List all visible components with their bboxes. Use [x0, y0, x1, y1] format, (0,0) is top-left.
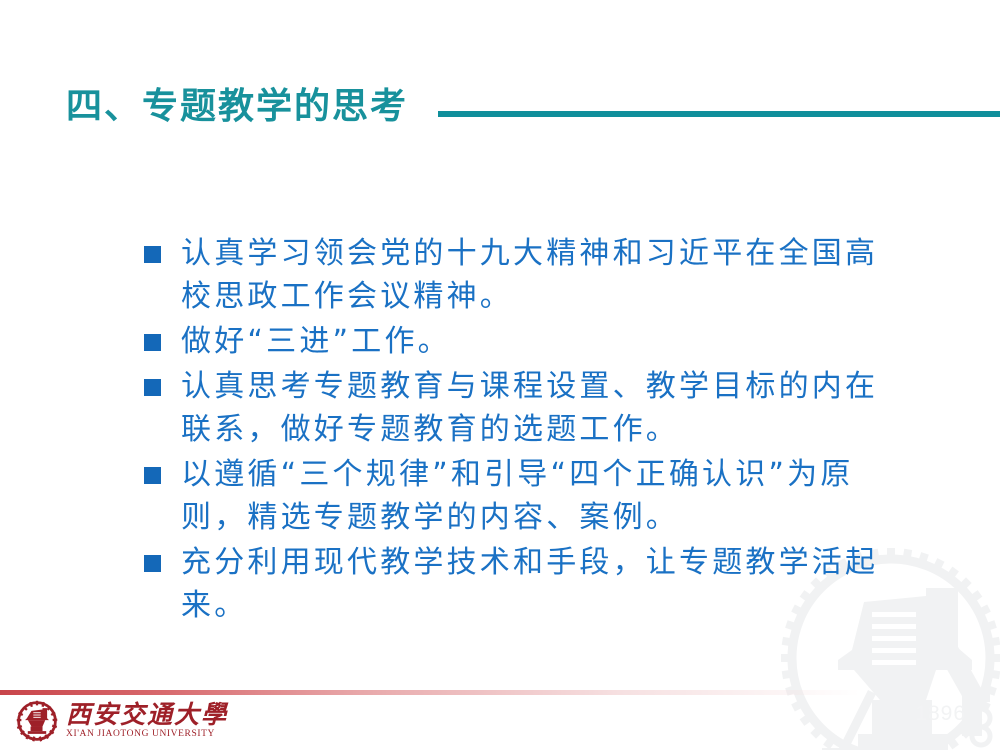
university-emblem-icon	[14, 698, 60, 744]
title-underline-rule	[438, 111, 1000, 117]
page-title: 四、专题教学的思考	[66, 88, 408, 126]
bullet-text: 认真学习领会党的十九大精神和习近平在全国高校思政工作会议精神。	[181, 232, 904, 318]
square-bullet-icon	[144, 379, 161, 396]
university-name-en: XI'AN JIAOTONG UNIVERSITY	[66, 730, 228, 740]
bullet-text: 以遵循“三个规律”和引导“四个正确认识”为原则，精选专题教学的内容、案例。	[181, 453, 904, 539]
square-bullet-icon	[144, 246, 161, 263]
university-name-cn: 西安交通大學	[66, 702, 228, 728]
slide-canvas: 1896 四、专题教学的思考 认真学习领会党的十九大精神和习近平在全国高校思政工…	[0, 0, 1000, 750]
list-item: 以遵循“三个规律”和引导“四个正确认识”为原则，精选专题教学的内容、案例。	[144, 453, 904, 539]
list-item: 充分利用现代教学技术和手段，让专题教学活起来。	[144, 541, 904, 627]
bullet-text: 认真思考专题教育与课程设置、教学目标的内在联系，做好专题教育的选题工作。	[181, 365, 904, 451]
footer-divider	[0, 690, 860, 695]
slide-title-row: 四、专题教学的思考	[0, 74, 1000, 126]
bullet-text: 充分利用现代教学技术和手段，让专题教学活起来。	[181, 541, 904, 627]
watermark-year-label: 1896	[915, 702, 966, 726]
university-logo: 西安交通大學 XI'AN JIAOTONG UNIVERSITY	[14, 698, 228, 744]
list-item: 认真学习领会党的十九大精神和习近平在全国高校思政工作会议精神。	[144, 232, 904, 318]
bullet-text: 做好“三进”工作。	[181, 320, 904, 363]
square-bullet-icon	[144, 467, 161, 484]
list-item: 认真思考专题教育与课程设置、教学目标的内在联系，做好专题教育的选题工作。	[144, 365, 904, 451]
university-logo-text: 西安交通大學 XI'AN JIAOTONG UNIVERSITY	[66, 702, 228, 740]
bullet-list: 认真学习领会党的十九大精神和习近平在全国高校思政工作会议精神。 做好“三进”工作…	[144, 232, 904, 629]
square-bullet-icon	[144, 555, 161, 572]
square-bullet-icon	[144, 334, 161, 351]
list-item: 做好“三进”工作。	[144, 320, 904, 363]
